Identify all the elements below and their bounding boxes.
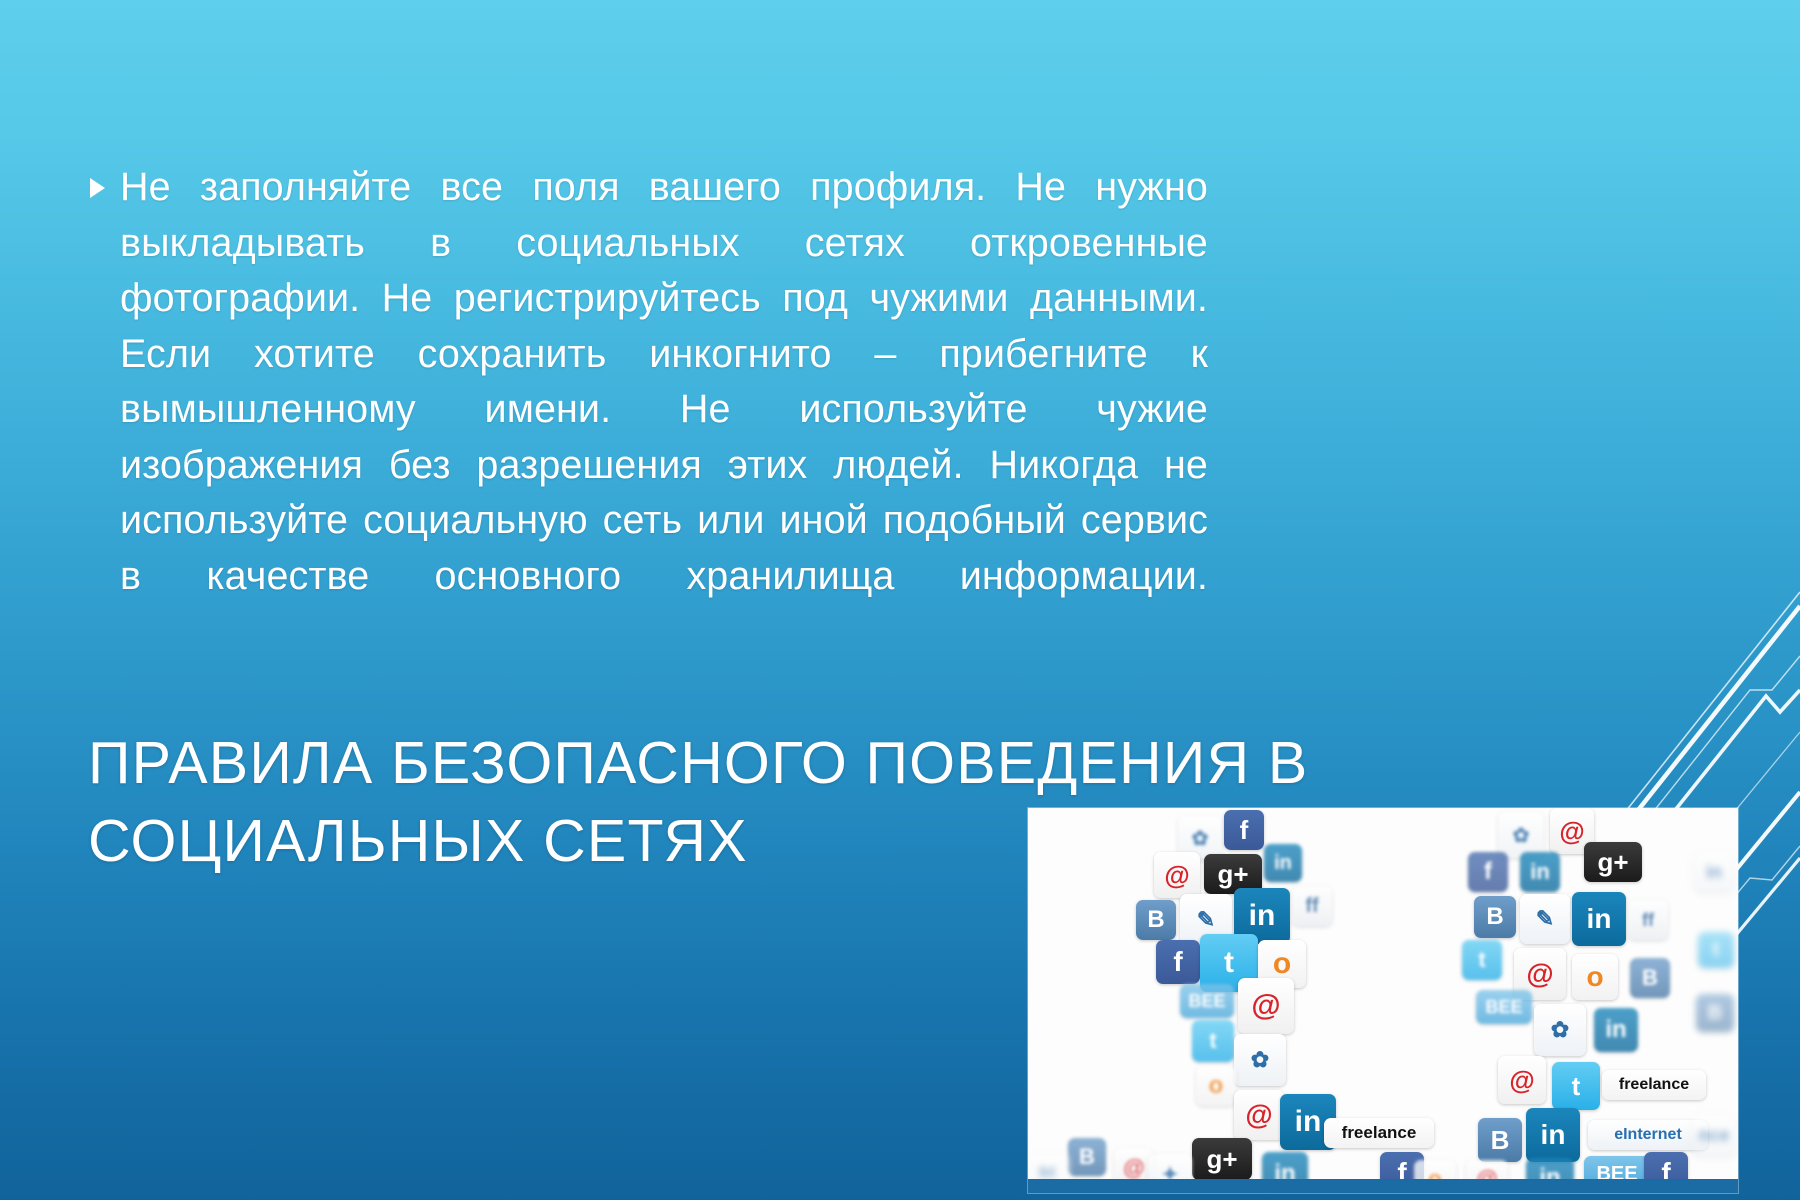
icon-tile: in bbox=[1572, 892, 1626, 946]
icon-tile: f bbox=[1224, 810, 1264, 850]
icon-tile: o bbox=[1572, 954, 1618, 1000]
triangle-bullet-icon bbox=[90, 178, 120, 198]
icon-tile: B bbox=[1136, 900, 1176, 940]
icon-tile: BEE bbox=[1476, 990, 1532, 1024]
presentation-slide: Не заполняйте все поля вашего профиля. Н… bbox=[0, 0, 1800, 1200]
icon-tile: freelance bbox=[1602, 1070, 1706, 1100]
icon-tile: ✎ bbox=[1520, 894, 1570, 944]
icon-tile: B bbox=[1630, 958, 1670, 998]
icon-tile: t bbox=[1462, 940, 1502, 980]
icon-tile: in bbox=[1526, 1108, 1580, 1162]
bullet-paragraph-text: Не заполняйте все поля вашего профиля. Н… bbox=[120, 160, 1208, 660]
collage-canvas: ✿ f @ g+ in B ✎ in ff f t o BEE @ t ✿ o … bbox=[1028, 808, 1738, 1193]
icon-tile: @ bbox=[1154, 852, 1200, 898]
icon-tile: B bbox=[1478, 1118, 1522, 1162]
icon-tile: ✿ bbox=[1534, 1004, 1586, 1056]
list-item: Не заполняйте все поля вашего профиля. Н… bbox=[90, 160, 1208, 660]
icon-tile: t bbox=[1192, 1020, 1234, 1062]
content-placeholder: Не заполняйте все поля вашего профиля. Н… bbox=[90, 160, 1208, 660]
icon-tile: f bbox=[1156, 940, 1200, 984]
icon-tile: in bbox=[1594, 1008, 1638, 1052]
collage-baseline-bar bbox=[1028, 1179, 1738, 1193]
icon-tile: o bbox=[1196, 1066, 1236, 1106]
icon-tile: t bbox=[1698, 932, 1734, 968]
icon-tile: @ bbox=[1238, 978, 1294, 1034]
icon-tile: in bbox=[1264, 844, 1302, 882]
icon-tile: g+ bbox=[1584, 842, 1642, 882]
icon-tile: B bbox=[1474, 896, 1516, 938]
icon-tile: B bbox=[1068, 1138, 1106, 1176]
icon-tile: @ bbox=[1498, 1056, 1546, 1104]
icon-tile: nce bbox=[1692, 1114, 1736, 1156]
icon-tile: B bbox=[1696, 994, 1734, 1032]
page-title-line-1: ПРАВИЛА БЕЗОПАСНОГО ПОВЕДЕНИЯ В bbox=[88, 724, 1208, 802]
icon-tile: @ bbox=[1234, 1090, 1284, 1140]
icon-tile: BEE bbox=[1180, 984, 1234, 1018]
icon-tile: eInternet bbox=[1588, 1120, 1708, 1150]
icon-tile: ✿ bbox=[1234, 1034, 1286, 1086]
icon-tile: g+ bbox=[1192, 1138, 1252, 1180]
icon-tile: in bbox=[1520, 852, 1560, 892]
icon-tile: f bbox=[1468, 852, 1508, 892]
icon-tile: ff bbox=[1628, 900, 1668, 940]
icon-tile: in bbox=[1694, 852, 1734, 892]
social-media-collage-image: ✿ f @ g+ in B ✎ in ff f t o BEE @ t ✿ o … bbox=[1028, 808, 1738, 1193]
icon-tile: ff bbox=[1292, 886, 1332, 926]
icon-tile: freelance bbox=[1324, 1118, 1434, 1148]
icon-tile: t bbox=[1552, 1062, 1600, 1110]
